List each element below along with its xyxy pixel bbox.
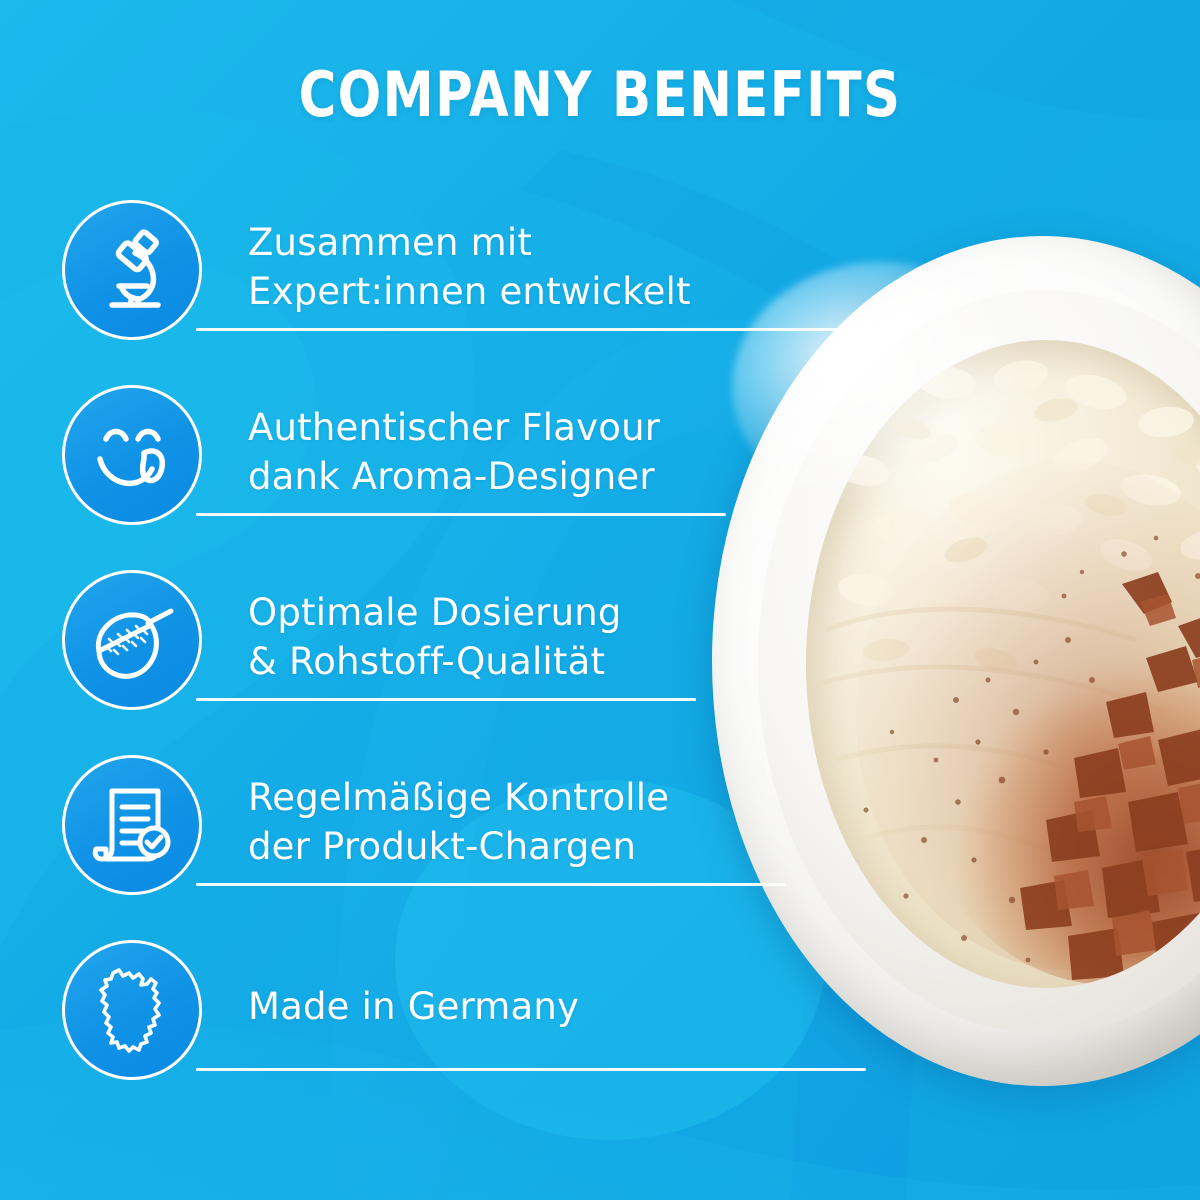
benefit-line-2: Expert:innen entwickelt [248, 267, 768, 316]
benefits-list: Zusammen mit Expert:innen entwickelt Aut… [0, 196, 1200, 1121]
benefit-line-2: & Rohstoff-Qualität [248, 637, 768, 686]
benefit-divider [196, 883, 786, 886]
benefit-text: Optimale Dosierung & Rohstoff-Qualität [248, 588, 768, 686]
benefit-line-1: Regelmäßige Kontrolle [248, 773, 768, 822]
benefit-line-2: der Produkt-Chargen [248, 822, 768, 871]
benefit-line-1: Optimale Dosierung [248, 588, 768, 637]
benefits-poster: COMPANY BENEFITS Zusammen mit Expert:inn… [0, 0, 1200, 1200]
benefit-item-optimal-dosage: Optimale Dosierung & Rohstoff-Qualität [0, 566, 1200, 751]
benefit-text: Zusammen mit Expert:innen entwickelt [248, 218, 768, 316]
benefit-divider [196, 328, 896, 331]
benefit-line-1: Zusammen mit [248, 218, 768, 267]
smiley-tongue-icon [62, 385, 202, 525]
benefit-item-developed-with-experts: Zusammen mit Expert:innen entwickelt [0, 196, 1200, 381]
benefit-line-1: Made in Germany [248, 982, 768, 1031]
certificate-check-icon [62, 755, 202, 895]
benefit-line-1: Authentischer Flavour [248, 403, 768, 452]
benefit-item-authentic-flavour: Authentischer Flavour dank Aroma-Designe… [0, 381, 1200, 566]
benefit-item-made-in-germany: Made in Germany [0, 936, 1200, 1121]
benefit-divider [196, 1068, 866, 1071]
benefit-divider [196, 513, 726, 516]
benefit-text: Made in Germany [248, 982, 768, 1031]
benefit-divider [196, 698, 696, 701]
benefit-item-regular-batch-control: Regelmäßige Kontrolle der Produkt-Charge… [0, 751, 1200, 936]
microscope-icon [62, 200, 202, 340]
benefit-text: Regelmäßige Kontrolle der Produkt-Charge… [248, 773, 768, 871]
sieve-scoop-icon [62, 570, 202, 710]
germany-map-icon [62, 940, 202, 1080]
benefit-line-2: dank Aroma-Designer [248, 452, 768, 501]
page-title: COMPANY BENEFITS [48, 62, 1152, 128]
benefit-text: Authentischer Flavour dank Aroma-Designe… [248, 403, 768, 501]
